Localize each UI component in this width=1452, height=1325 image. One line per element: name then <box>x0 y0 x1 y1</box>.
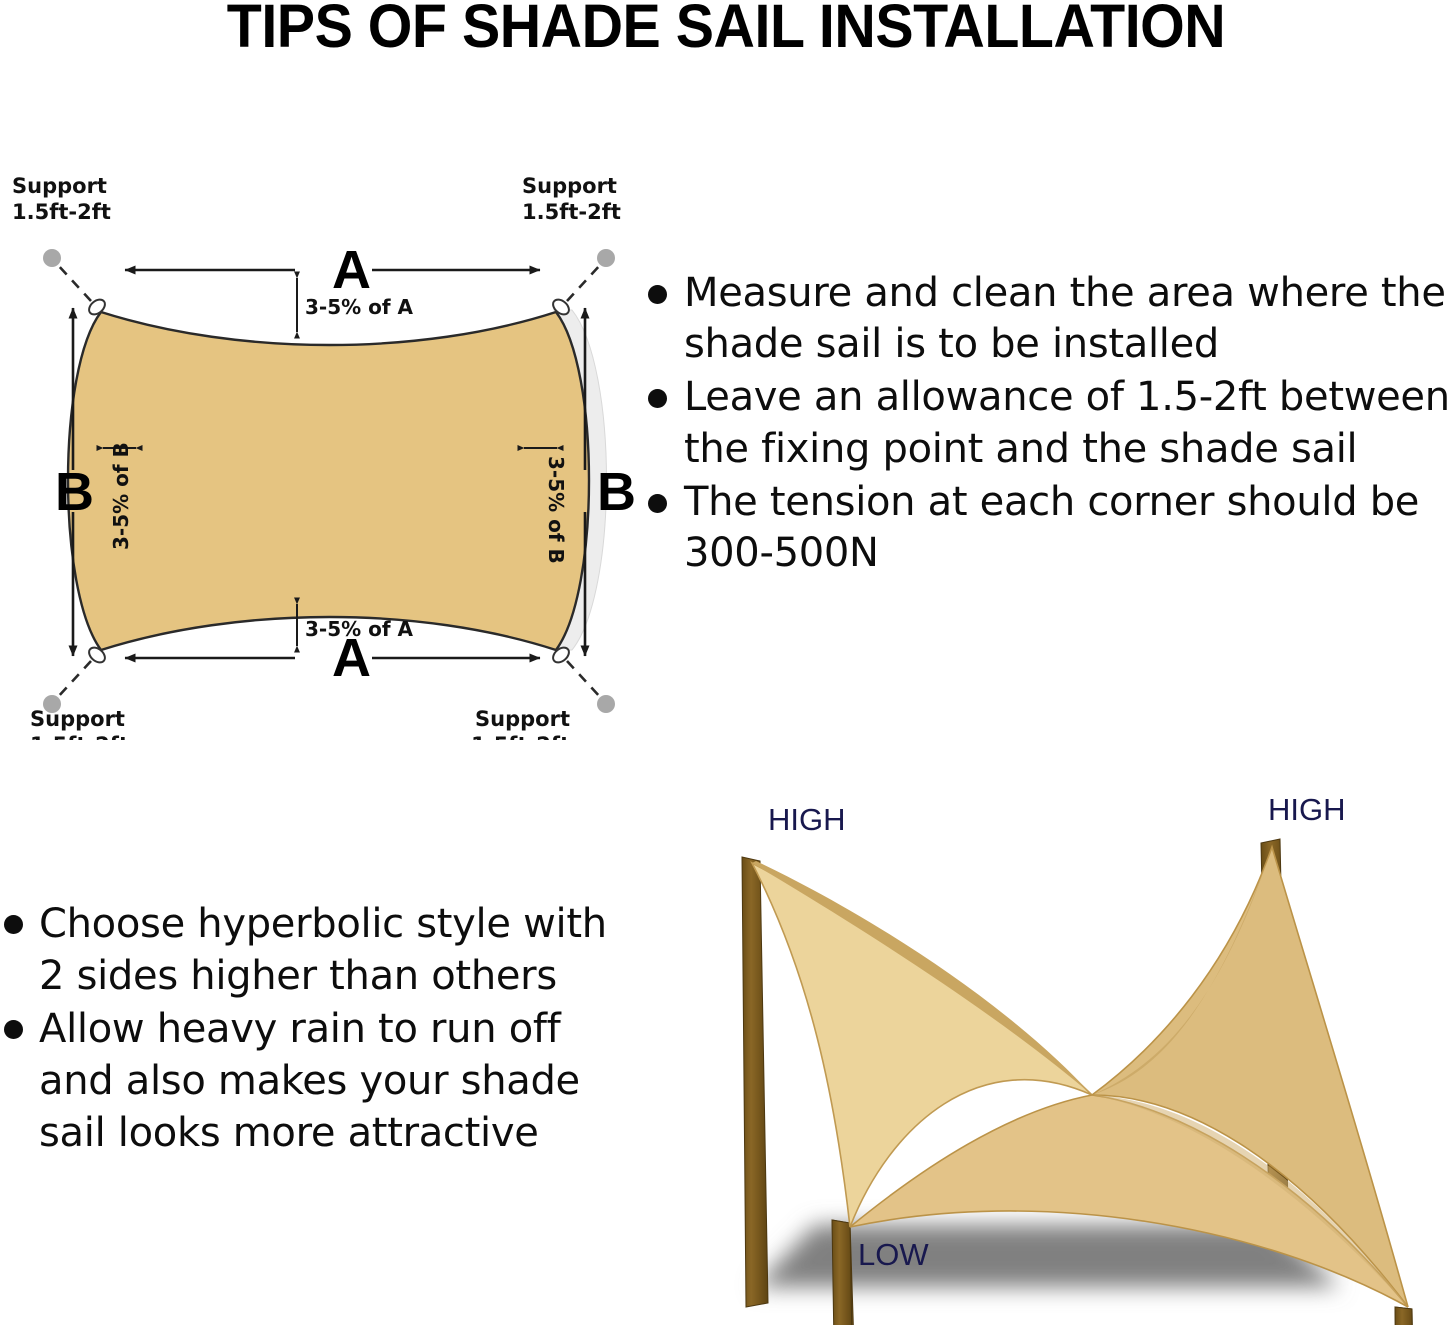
post-high-left <box>742 857 768 1307</box>
hyperbolic-style-tips-list: Choose hyperbolic style with 2 sides hig… <box>4 898 624 1160</box>
style-tip-text: Choose hyperbolic style with 2 sides hig… <box>39 898 607 1002</box>
curve-callout-right-label: 3-5% of B <box>544 456 568 564</box>
label-high-right: HIGH <box>1268 795 1346 827</box>
list-item: The tension at each corner should be 300… <box>648 477 1452 579</box>
post-low-right-body <box>1395 1307 1415 1325</box>
style-tip-line: Allow heavy rain to run off <box>39 1006 560 1052</box>
support-dot-top-left <box>43 249 61 267</box>
tip-line: 300-500N <box>684 530 879 576</box>
support-line-top-left <box>57 264 91 301</box>
tip-text: Leave an allowance of 1.5-2ft between th… <box>684 372 1450 474</box>
curve-callout-bottom-label: 3-5% of A <box>305 617 414 641</box>
tip-line: Leave an allowance of 1.5-2ft between <box>684 374 1450 420</box>
dimension-b-left-label: B <box>55 462 94 522</box>
support-line-bottom-left <box>57 661 91 698</box>
label-low-left: LOW <box>858 1237 929 1272</box>
rectangular-sail-diagram: Support 1.5ft-2ft Support 1.5ft-2ft Supp… <box>0 160 680 740</box>
support-label-bottom-right-line1: Support <box>475 707 570 731</box>
dimension-b-right-label: B <box>597 462 636 522</box>
support-line-top-right <box>567 264 601 301</box>
tip-text: Measure and clean the area where the sha… <box>684 268 1446 370</box>
post-low-left-body <box>832 1220 853 1325</box>
support-dot-bottom-right <box>597 695 615 713</box>
tip-line: the fixing point and the shade sail <box>684 426 1357 472</box>
tip-line: Measure and clean the area where the <box>684 270 1446 316</box>
style-tip-line: 2 sides higher than others <box>39 953 557 999</box>
bullet-dot-icon <box>4 1020 23 1039</box>
support-label-bottom-right-line2: 1.5ft-2ft <box>471 733 570 740</box>
shade-sail-body <box>68 312 589 650</box>
support-label-top-right-line2: 1.5ft-2ft <box>522 200 621 224</box>
support-label-bottom-left-line2: 1.5ft-2ft <box>30 733 129 740</box>
style-tip-line: sail looks more attractive <box>39 1110 539 1156</box>
list-item: Choose hyperbolic style with 2 sides hig… <box>4 898 624 1002</box>
support-line-bottom-right <box>567 661 601 698</box>
tip-line: shade sail is to be installed <box>684 321 1219 367</box>
style-tip-line: and also makes your shade <box>39 1058 580 1104</box>
curve-callout-top-label: 3-5% of A <box>305 295 414 319</box>
support-label-top-right-line1: Support <box>522 174 617 198</box>
style-tip-line: Choose hyperbolic style with <box>39 901 607 947</box>
tip-line: The tension at each corner should be <box>684 479 1419 525</box>
support-label-bottom-left-line1: Support <box>30 707 125 731</box>
tip-text: The tension at each corner should be 300… <box>684 477 1419 579</box>
list-item: Allow heavy rain to run off and also mak… <box>4 1003 624 1159</box>
hyperbolic-sail-diagram: HIGH HIGH LOW LOW <box>660 795 1452 1325</box>
list-item: Measure and clean the area where the sha… <box>648 268 1452 370</box>
list-item: Leave an allowance of 1.5-2ft between th… <box>648 372 1452 474</box>
bullet-dot-icon <box>648 494 667 513</box>
label-high-left: HIGH <box>768 802 846 837</box>
style-tip-text: Allow heavy rain to run off and also mak… <box>39 1003 580 1159</box>
support-dot-top-right <box>597 249 615 267</box>
bullet-dot-icon <box>648 389 667 408</box>
dimension-a-top-label: A <box>332 240 371 300</box>
bullet-dot-icon <box>4 915 23 934</box>
bullet-dot-icon <box>648 285 667 304</box>
installation-tips-list: Measure and clean the area where the sha… <box>648 268 1452 581</box>
page-title: TIPS OF SHADE SAIL INSTALLATION <box>44 0 1409 57</box>
support-label-top-left-line2: 1.5ft-2ft <box>12 200 111 224</box>
support-label-top-left-line1: Support <box>12 174 107 198</box>
curve-callout-left-label: 3-5% of B <box>109 442 133 550</box>
